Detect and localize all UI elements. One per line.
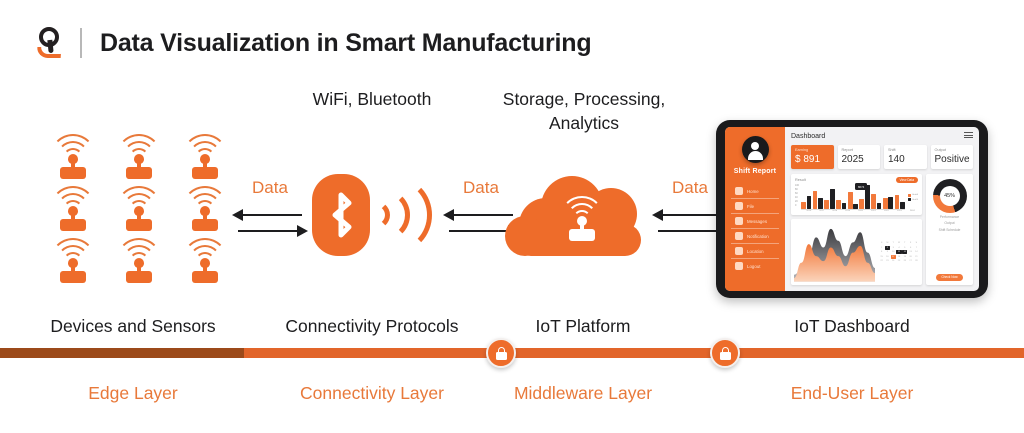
bar xyxy=(859,199,864,209)
x-tick-label: 2017 xyxy=(816,210,828,212)
infographic-canvas: Data Visualization in Smart Manufacturin… xyxy=(0,0,1024,433)
node-caption-dashboard: IoT Dashboard xyxy=(726,316,978,337)
calendar-weekday: M xyxy=(885,241,890,245)
arrow-left-icon xyxy=(232,207,308,223)
bluetooth-glyph xyxy=(325,190,357,240)
wifi-sensor-icon xyxy=(176,184,234,234)
bar-group[interactable] xyxy=(883,184,893,209)
layer-segment-rest xyxy=(244,348,1024,358)
dashboard-sidebar: Shift Report Home File Messages Notifica… xyxy=(725,127,785,291)
bar-chart-body: 100806040200 8674 Unit A Unit B xyxy=(795,184,918,210)
user-avatar-icon[interactable] xyxy=(742,136,769,163)
sidebar-item-label: Logout xyxy=(747,264,760,269)
area-chart-svg xyxy=(794,222,875,282)
x-tick-label: 2020 xyxy=(855,210,867,212)
dashboard-menu: Home File Messages Notification Location… xyxy=(729,184,781,273)
calendar-day[interactable]: 8 xyxy=(879,250,884,254)
kpi-label: Report xyxy=(842,148,877,152)
performance-donut-panel: 45% Performance Output Shift Schedule Ch… xyxy=(926,174,973,285)
arrow-label-data: Data xyxy=(232,178,308,198)
donut-label-performance: Performance xyxy=(940,215,959,219)
sidebar-item-location[interactable]: Location xyxy=(731,244,779,259)
calendar-weekday: T xyxy=(902,241,907,245)
arrow-right-icon xyxy=(232,223,308,239)
pin-icon xyxy=(735,247,743,255)
bar-group[interactable] xyxy=(813,184,823,209)
lock-icon xyxy=(496,347,507,360)
message-icon xyxy=(735,217,743,225)
wifi-sensor-icon xyxy=(44,132,102,182)
wifi-sensor-icon xyxy=(44,236,102,286)
page-title: Data Visualization in Smart Manufacturin… xyxy=(100,29,591,58)
node-caption-connectivity: Connectivity Protocols xyxy=(246,316,498,337)
bar xyxy=(877,203,882,209)
node-caption-platform: IoT Platform xyxy=(470,316,696,337)
calendar-day[interactable]: 14 xyxy=(914,250,919,254)
calendar-day[interactable]: 19 xyxy=(902,255,907,259)
wifi-sensor-icon xyxy=(110,184,168,234)
dashboard-left-panels: Result View Data 100806040200 8674 Unit … xyxy=(791,174,922,285)
wifi-sensor-icon xyxy=(44,184,102,234)
legend-swatch-icon xyxy=(908,194,911,197)
dashboard-panels: Result View Data 100806040200 8674 Unit … xyxy=(791,174,973,285)
calendar-day[interactable]: 18 xyxy=(896,255,901,259)
devices-and-sensors-group xyxy=(44,132,238,288)
bar xyxy=(900,202,905,210)
legend-label: Unit B xyxy=(912,199,918,201)
x-tick-label: 2024 xyxy=(907,210,919,212)
bar-chart-x-labels: 201620172018201920202021202220232024 xyxy=(803,210,918,212)
hamburger-icon[interactable] xyxy=(964,132,973,140)
calendar-day[interactable]: 21 xyxy=(914,255,919,259)
calendar-day[interactable]: 26 xyxy=(902,259,907,263)
calendar-day[interactable]: 2 xyxy=(885,246,890,250)
sidebar-item-label: File xyxy=(747,204,754,209)
dashboard-topbar: Dashboard xyxy=(791,132,973,140)
calendar-day[interactable]: 3 xyxy=(891,246,896,250)
kpi-row: Earning $ 891 Report 2025 Shift 140 Outp… xyxy=(791,145,973,169)
x-tick-label: 2021 xyxy=(868,210,880,212)
performance-donut-chart: 45% xyxy=(933,179,967,213)
kpi-label: Output xyxy=(935,148,970,152)
calendar-day[interactable]: 24 xyxy=(891,259,896,263)
calendar-weekday: S xyxy=(914,241,919,245)
signal-wave-icon xyxy=(360,177,432,253)
layer-segment-edge xyxy=(0,348,244,358)
sidebar-item-file[interactable]: File xyxy=(731,199,779,214)
kpi-label: Earning xyxy=(795,148,830,152)
view-data-button[interactable]: View Data xyxy=(896,177,918,183)
calendar-day[interactable]: 12 xyxy=(902,250,907,254)
bar xyxy=(818,198,823,209)
legend-item: Unit B xyxy=(908,198,918,201)
calendar-day[interactable]: 6 xyxy=(908,246,913,250)
sidebar-item-notification[interactable]: Notification xyxy=(731,229,779,244)
calendar-day[interactable]: 17 xyxy=(891,255,896,259)
kpi-card-earning[interactable]: Earning $ 891 xyxy=(791,145,834,169)
bar xyxy=(836,200,841,209)
dashboard-main: Dashboard Earning $ 891 Report 2025 Shif… xyxy=(785,127,979,291)
kpi-value: Positive xyxy=(935,154,970,165)
bar xyxy=(842,203,847,210)
legend-swatch-icon xyxy=(908,198,911,201)
sidebar-item-messages[interactable]: Messages xyxy=(731,214,779,229)
bar-group[interactable] xyxy=(801,184,811,209)
calendar-day[interactable]: 5 xyxy=(902,246,907,250)
calendar-widget[interactable]: SMTWTFS123456789101112131415161718192021… xyxy=(879,222,919,282)
kpi-value: 2025 xyxy=(842,154,877,165)
x-tick-label: 2016 xyxy=(803,210,815,212)
wifi-sensor-icon xyxy=(110,132,168,182)
bar xyxy=(848,192,853,210)
sidebar-item-label: Home xyxy=(747,189,759,194)
x-tick-label: 2022 xyxy=(881,210,893,212)
brand-logo-icon xyxy=(36,25,64,61)
sidebar-item-label: Notification xyxy=(747,234,769,239)
layer-label-middleware: Middleware Layer xyxy=(470,383,696,404)
calendar-day[interactable]: 9 xyxy=(885,250,890,254)
iot-dashboard-tablet: Shift Report Home File Messages Notifica… xyxy=(716,120,988,298)
donut-label-shift-schedule: Shift Schedule xyxy=(939,228,961,232)
donut-percent-value: 45% xyxy=(944,193,955,199)
layer-label-edge: Edge Layer xyxy=(0,383,266,404)
kpi-label: Shift xyxy=(888,148,923,152)
kpi-value: $ 891 xyxy=(795,154,830,165)
bar xyxy=(830,189,835,209)
calendar-day[interactable]: 22 xyxy=(879,259,884,263)
calendar-weekday: T xyxy=(891,241,896,245)
bell-icon xyxy=(735,232,743,240)
calendar-day[interactable]: 16 xyxy=(885,255,890,259)
wifi-sensor-icon xyxy=(176,236,234,286)
caption-platform-tech: Storage, Processing, Analytics xyxy=(470,88,698,135)
dashboard-title: Dashboard xyxy=(791,133,825,140)
calendar-day[interactable]: 15 xyxy=(879,255,884,259)
lock-icon xyxy=(720,347,731,360)
page-header: Data Visualization in Smart Manufacturin… xyxy=(36,22,591,64)
trend-area-chart-panel: SMTWTFS123456789101112131415161718192021… xyxy=(791,219,922,285)
x-tick-label: 2018 xyxy=(829,210,841,212)
legend-item: Unit A xyxy=(908,194,918,197)
wifi-sensor-icon xyxy=(556,196,608,246)
data-arrow-group-1: Data xyxy=(232,178,308,239)
bar-chart-tooltip: 8674 xyxy=(855,183,867,189)
calendar-day[interactable]: 13 xyxy=(908,250,913,254)
calendar-day[interactable]: 28 xyxy=(914,259,919,263)
legend-label: Unit A xyxy=(912,194,918,196)
logout-icon xyxy=(735,262,743,270)
calendar-day[interactable]: 11 xyxy=(896,250,901,254)
bar-group[interactable] xyxy=(871,184,881,209)
sidebar-item-home[interactable]: Home xyxy=(731,184,779,199)
sidebar-item-logout[interactable]: Logout xyxy=(731,259,779,273)
wifi-sensor-icon xyxy=(176,132,234,182)
check-now-button[interactable]: Check Now xyxy=(936,274,962,281)
bar xyxy=(853,204,858,209)
kpi-card-shift[interactable]: Shift 140 xyxy=(884,145,927,169)
y-tick-label: 0 xyxy=(795,205,799,207)
dashboard-screen: Shift Report Home File Messages Notifica… xyxy=(725,127,979,291)
calendar-day[interactable]: 23 xyxy=(885,259,890,263)
iot-platform-node xyxy=(505,172,655,262)
result-bar-chart-panel: Result View Data 100806040200 8674 Unit … xyxy=(791,174,922,215)
bar-chart-plot: 8674 xyxy=(801,184,905,210)
calendar-day[interactable]: 25 xyxy=(896,259,901,263)
layer-label-connectivity: Connectivity Layer xyxy=(246,383,498,404)
connectivity-protocols-node xyxy=(312,172,424,260)
wifi-sensor-icon xyxy=(110,236,168,286)
bar xyxy=(813,191,818,209)
bar-group[interactable] xyxy=(895,184,905,209)
x-tick-label: 2023 xyxy=(894,210,906,212)
calendar-day[interactable]: 7 xyxy=(914,246,919,250)
header-divider xyxy=(80,28,82,58)
lock-badge-2 xyxy=(710,338,740,368)
area-chart xyxy=(794,222,875,282)
node-caption-devices: Devices and Sensors xyxy=(0,316,266,337)
lock-badge-1 xyxy=(486,338,516,368)
calendar-day[interactable]: 20 xyxy=(908,255,913,259)
folder-icon xyxy=(735,202,743,210)
bar-chart-legend: Unit A Unit B xyxy=(907,184,918,210)
caption-connectivity-tech: WiFi, Bluetooth xyxy=(258,88,486,112)
kpi-card-report[interactable]: Report 2025 xyxy=(838,145,881,169)
bar xyxy=(824,200,829,210)
calendar-day[interactable]: 27 xyxy=(908,259,913,263)
calendar-weekday: F xyxy=(908,241,913,245)
layer-label-enduser: End-User Layer xyxy=(726,383,978,404)
calendar-day[interactable]: 10 xyxy=(891,250,896,254)
calendar-weekday: W xyxy=(896,241,901,245)
bar xyxy=(871,194,876,210)
dashboard-brand-label: Shift Report xyxy=(729,168,781,175)
bar-chart-y-axis: 100806040200 xyxy=(795,184,799,210)
bar xyxy=(801,202,806,210)
kpi-value: 140 xyxy=(888,154,923,165)
bar xyxy=(883,198,888,209)
bar xyxy=(807,196,812,210)
bar xyxy=(888,197,893,210)
home-icon xyxy=(735,187,743,195)
calendar-day[interactable]: 4 xyxy=(896,246,901,250)
kpi-card-output[interactable]: Output Positive xyxy=(931,145,974,169)
sidebar-item-label: Location xyxy=(747,249,764,254)
bar-group[interactable] xyxy=(836,184,846,209)
bar-chart-title: Result xyxy=(795,178,806,182)
donut-label-output: Output xyxy=(944,221,954,225)
sidebar-item-label: Messages xyxy=(747,219,767,224)
bar xyxy=(895,195,900,209)
calendar-weekday: S xyxy=(879,241,884,245)
x-tick-label: 2019 xyxy=(842,210,854,212)
bar-group[interactable] xyxy=(824,184,834,209)
calendar-day[interactable]: 1 xyxy=(879,246,884,250)
